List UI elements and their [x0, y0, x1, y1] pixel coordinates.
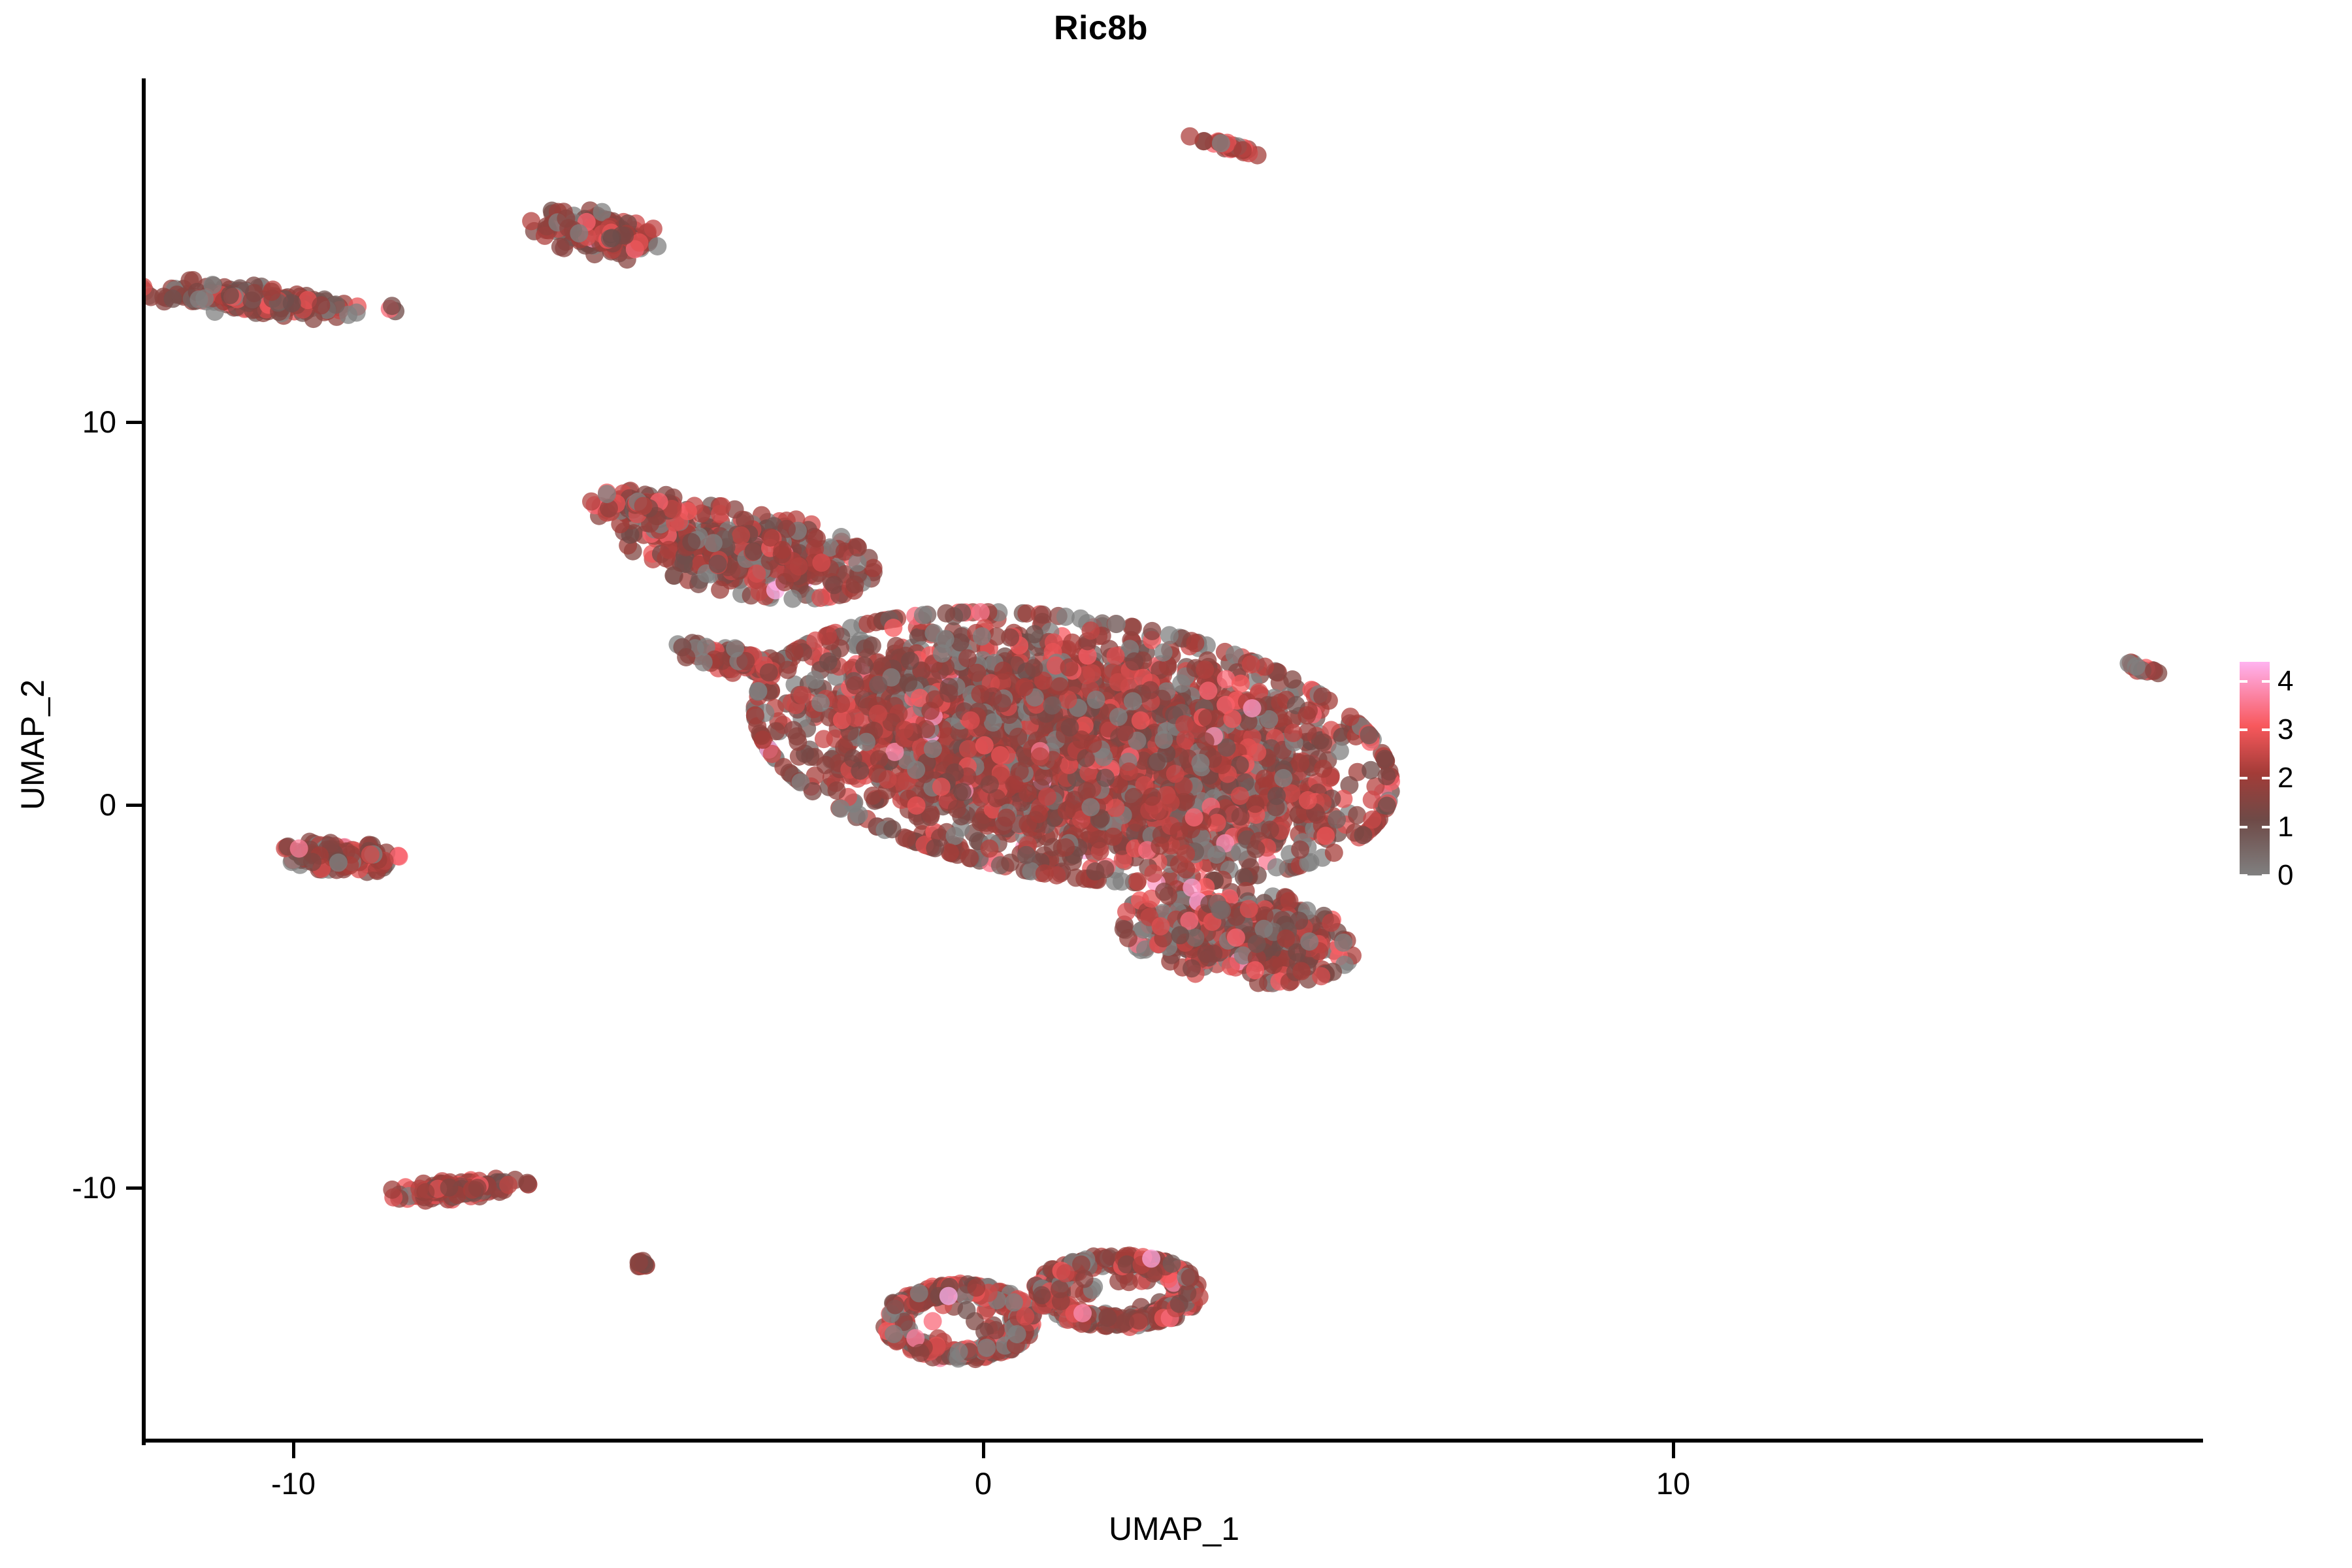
y-axis-line [142, 78, 146, 1445]
x-tick-mark [982, 1443, 985, 1458]
colorbar-tick-label: 4 [2278, 664, 2293, 698]
x-tick-label: 0 [905, 1465, 1062, 1502]
colorbar-tick-mark [2240, 826, 2247, 828]
colorbar-tick-mark [2240, 874, 2247, 877]
colorbar-gradient [2240, 662, 2270, 875]
x-tick-label: -10 [215, 1465, 372, 1502]
umap-feature-plot: Ric8b -10010 100-10 UMAP_1 UMAP_2 43210 [0, 0, 2352, 1568]
colorbar-tick-mark [2240, 680, 2247, 683]
y-tick-mark [126, 1186, 142, 1190]
x-axis-line [142, 1439, 2203, 1443]
y-tick-mark [126, 421, 142, 424]
y-tick-label: -10 [0, 1169, 116, 1206]
page-title: Ric8b [0, 5, 2202, 51]
color-legend: 43210 [2240, 662, 2338, 884]
colorbar-tick-mark [2240, 728, 2247, 731]
plot-panel [145, 84, 2203, 1441]
y-axis-title: UMAP_2 [13, 497, 52, 993]
colorbar-tick-mark [2262, 874, 2270, 877]
colorbar-tick-label: 1 [2278, 810, 2293, 844]
scatter-points-layer [145, 84, 2203, 1441]
colorbar-tick-label: 2 [2278, 761, 2293, 795]
x-tick-label: 10 [1595, 1465, 1752, 1502]
colorbar [2240, 662, 2270, 875]
colorbar-tick-mark [2240, 777, 2247, 779]
y-tick-label: 10 [0, 404, 116, 440]
y-tick-mark [126, 804, 142, 807]
colorbar-tick-mark [2262, 680, 2270, 683]
colorbar-tick-label: 0 [2278, 858, 2293, 892]
x-tick-mark [1672, 1443, 1675, 1458]
colorbar-tick-mark [2262, 777, 2270, 779]
x-tick-mark [292, 1443, 295, 1458]
colorbar-tick-label: 3 [2278, 713, 2293, 747]
x-axis-title: UMAP_1 [145, 1509, 2203, 1548]
colorbar-tick-mark [2262, 728, 2270, 731]
colorbar-tick-mark [2262, 826, 2270, 828]
